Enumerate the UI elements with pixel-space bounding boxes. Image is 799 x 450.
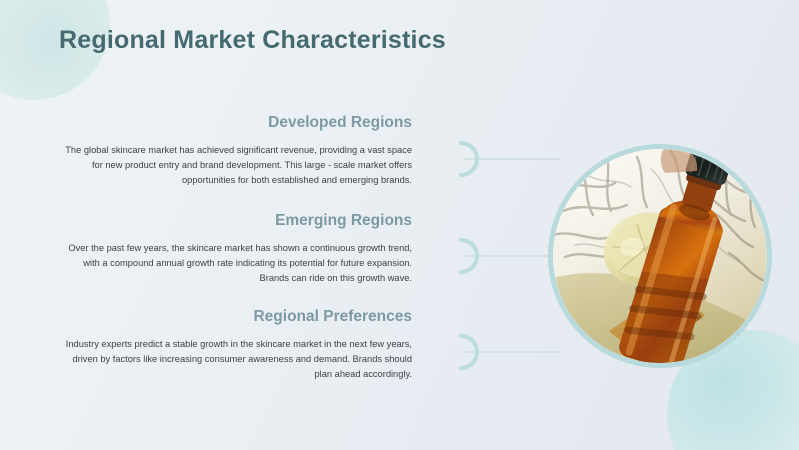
page-title: Regional Market Characteristics — [59, 26, 446, 55]
arc-connector-icon — [443, 236, 563, 276]
section-heading: Developed Regions — [60, 114, 412, 131]
section-body: Industry experts predict a stable growth… — [60, 337, 412, 382]
arc-connector-icon — [443, 332, 563, 372]
slide-canvas: Regional Market Characteristics Develope… — [0, 0, 799, 450]
section-regional-preferences: Regional Preferences Industry experts pr… — [60, 308, 412, 382]
section-emerging-regions: Emerging Regions Over the past few years… — [60, 212, 412, 286]
section-body: Over the past few years, the skincare ma… — [60, 241, 412, 286]
section-body: The global skincare market has achieved … — [60, 143, 412, 188]
circular-photo-frame — [548, 144, 772, 368]
section-heading: Regional Preferences — [60, 308, 412, 325]
product-photo — [553, 149, 767, 363]
arc-connector-icon — [443, 139, 563, 179]
section-developed-regions: Developed Regions The global skincare ma… — [60, 114, 412, 188]
section-heading: Emerging Regions — [60, 212, 412, 229]
